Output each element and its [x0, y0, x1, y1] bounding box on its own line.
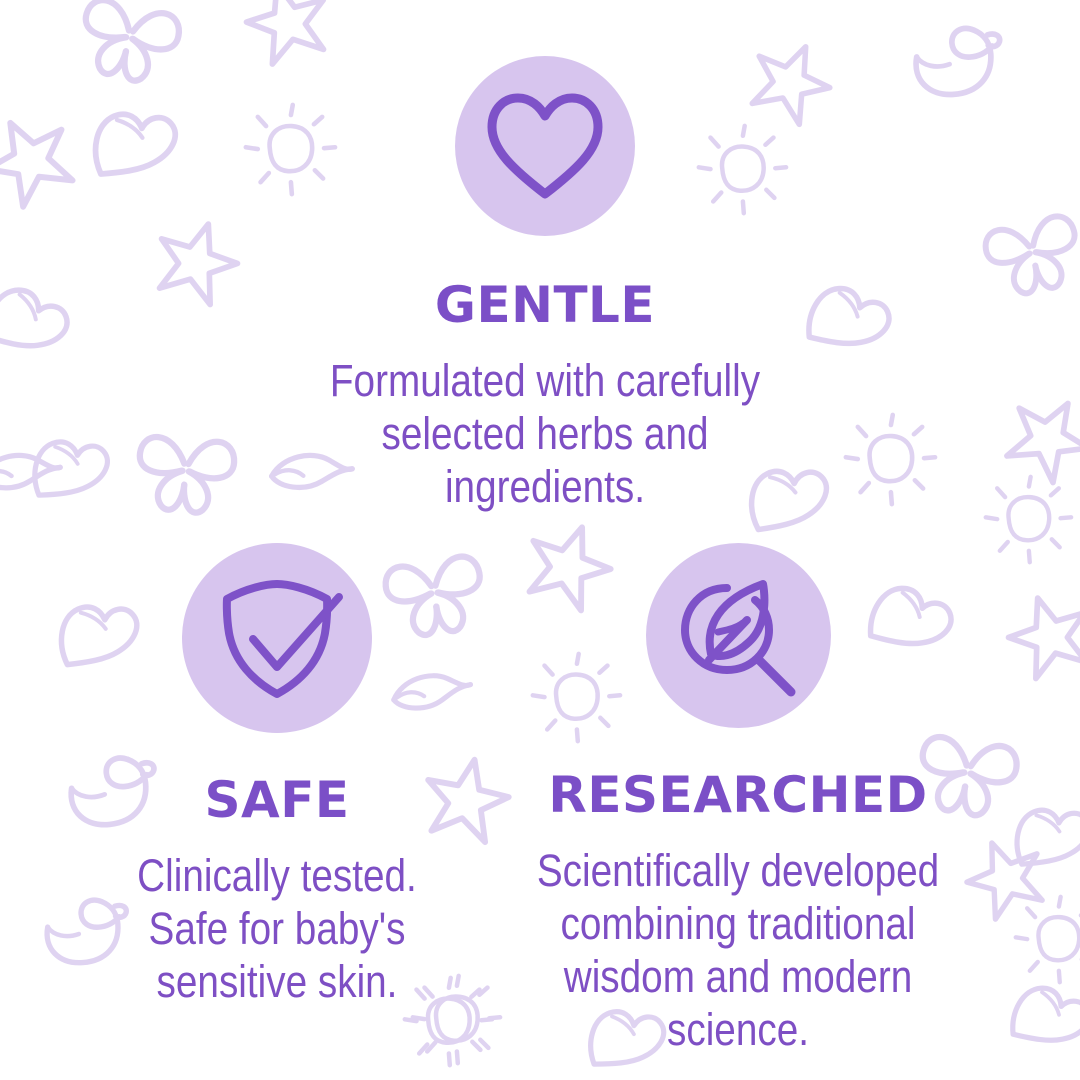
- researched-icon-badge: [646, 543, 831, 728]
- feature-gentle-description-line: selected herbs and: [304, 407, 786, 460]
- infographic-canvas: GENTLE Formulated with carefully selecte…: [0, 0, 1080, 1080]
- feature-gentle: GENTLE Formulated with carefully selecte…: [265, 56, 825, 513]
- feature-researched: RESEARCHED Scientifically developed comb…: [483, 543, 993, 1056]
- gentle-icon-badge: [455, 56, 635, 236]
- feature-safe-description: Clinically tested. Safe for baby's sensi…: [58, 849, 497, 1008]
- feature-gentle-title: GENTLE: [265, 280, 825, 330]
- safe-icon-badge: [182, 543, 372, 733]
- feature-researched-description-line: Scientifically developed: [519, 844, 958, 897]
- feature-safe-description-line: sensitive skin.: [58, 955, 497, 1008]
- feature-gentle-description: Formulated with carefully selected herbs…: [304, 354, 786, 513]
- feature-gentle-description-line: ingredients.: [304, 460, 786, 513]
- feature-researched-description-line: combining traditional: [519, 897, 958, 950]
- feature-safe-description-line: Safe for baby's: [58, 902, 497, 955]
- feature-researched-description-line: wisdom and modern science.: [519, 950, 958, 1056]
- feature-researched-description: Scientifically developed combining tradi…: [519, 844, 958, 1056]
- feature-researched-title: RESEARCHED: [483, 770, 993, 820]
- feature-gentle-description-line: Formulated with carefully: [304, 354, 786, 407]
- leaf-magnifier-icon: [671, 570, 805, 702]
- feature-safe-description-line: Clinically tested.: [58, 849, 497, 902]
- heart-icon: [484, 90, 606, 202]
- feature-safe-title: SAFE: [22, 775, 532, 825]
- feature-safe: SAFE Clinically tested. Safe for baby's …: [22, 543, 532, 1008]
- shield-check-icon: [209, 575, 345, 701]
